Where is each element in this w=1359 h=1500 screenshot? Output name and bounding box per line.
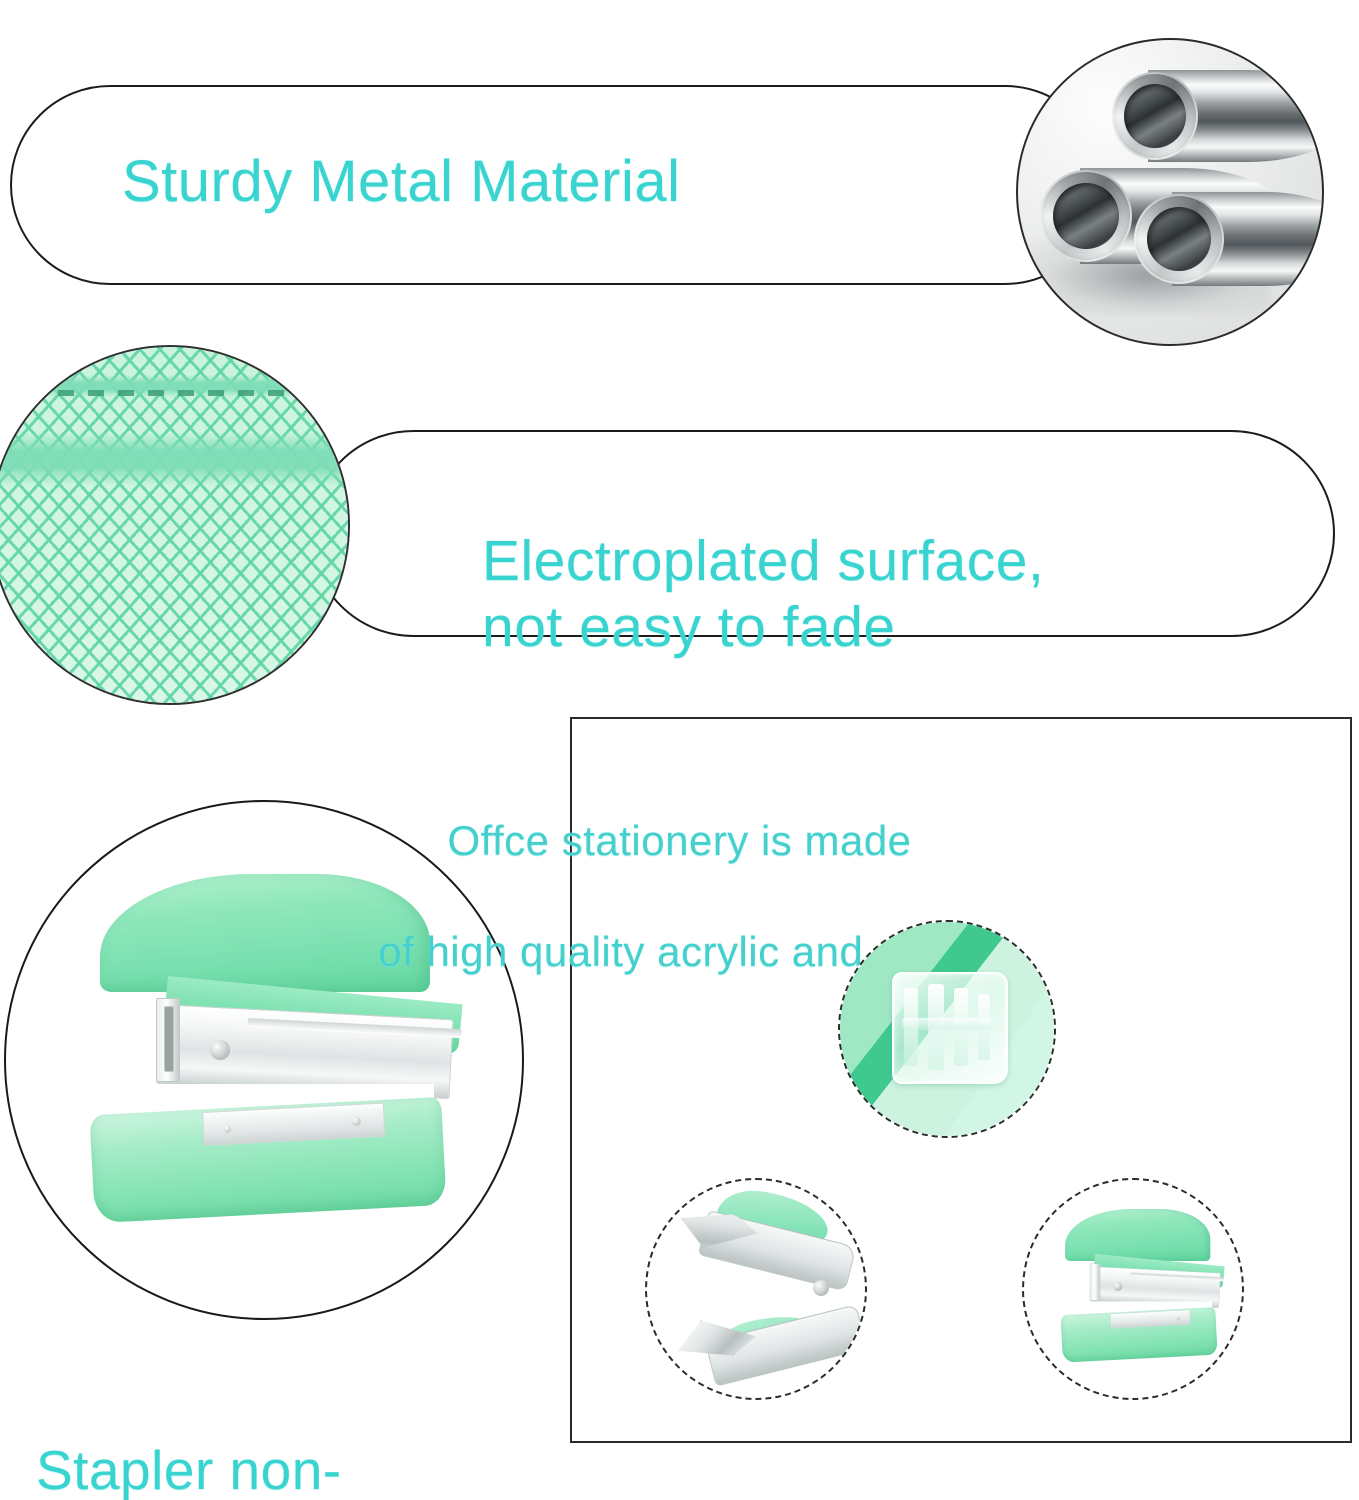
tubes-illustration [1018, 40, 1322, 344]
mint-stapler-icon [1022, 1178, 1244, 1400]
mesh-texture-icon [0, 345, 350, 705]
staple-remover-icon [645, 1178, 867, 1400]
callout-label-electroplated: Electroplated surface, not easy to fade [482, 462, 1044, 660]
mesh-rim-dashes [28, 390, 313, 396]
non-slip-line-1: Stapler non- [36, 1439, 342, 1500]
acrylic-body [892, 972, 1008, 1084]
tube-front-right [1130, 192, 1324, 286]
metal-tubes-icon [1016, 38, 1324, 346]
callout-label-non-slip-base: Stapler non- slip base [36, 1378, 506, 1500]
remover-illustration [665, 1192, 855, 1382]
tube-back [1106, 70, 1324, 162]
callout-label-sturdy-metal: Sturdy Metal Material [122, 152, 680, 211]
infographic-canvas: Sturdy Metal Material [0, 0, 1359, 1500]
electroplated-line-2: not easy to fade [482, 595, 896, 659]
electroplated-line-1: Electroplated surface, [482, 529, 1044, 593]
panel-heading-line-2: of high quality acrylic and metal [0, 924, 1359, 979]
panel-heading-line-1: Offce stationery is made [0, 813, 1359, 868]
acrylic-clip-icon [838, 920, 1056, 1138]
mesh-pattern [0, 347, 348, 703]
mini-stapler-illustration [1044, 1202, 1126, 1280]
panel-heading: Offce stationery is made of high quality… [0, 758, 1359, 1035]
mesh-highlight-band [0, 432, 350, 485]
